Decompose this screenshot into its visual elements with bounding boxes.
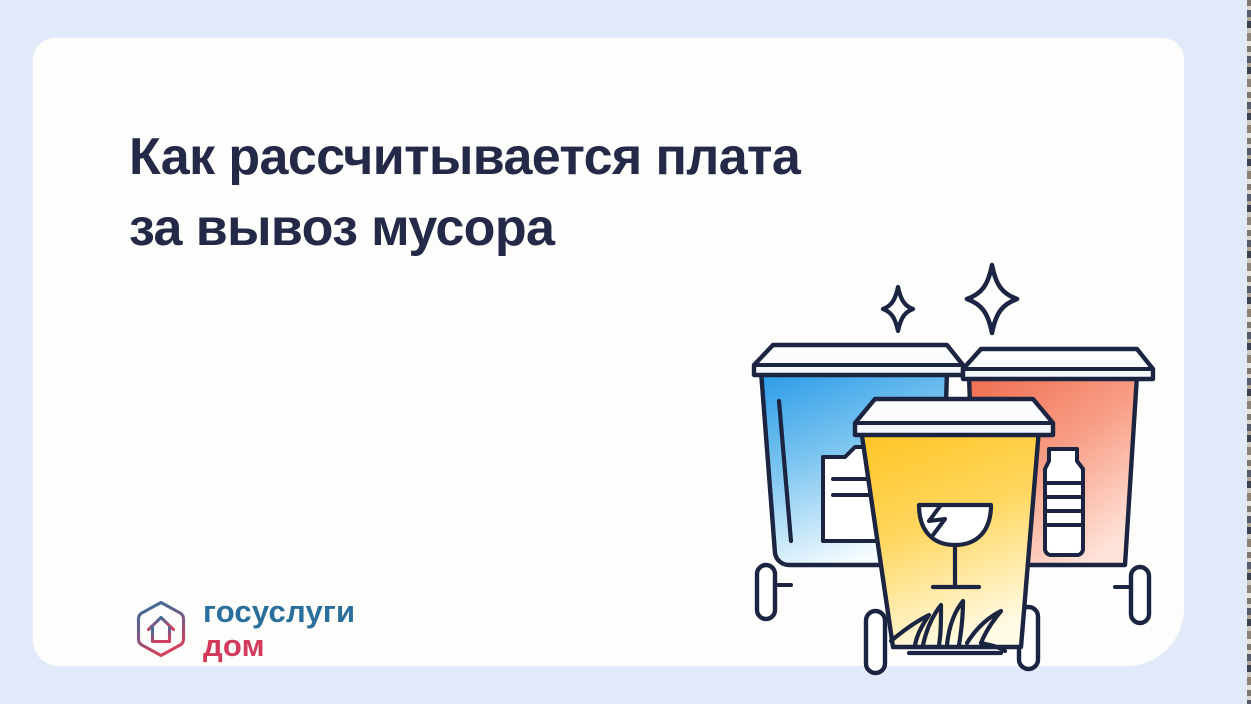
gosuslugi-dom-logo[interactable]: госуслуги дом: [130, 596, 355, 661]
screenshot-canvas: Как рассчитывается плата за вывоз мусора…: [0, 0, 1251, 704]
bin-glass: [855, 399, 1053, 673]
content-card: Как рассчитывается плата за вывоз мусора…: [33, 38, 1184, 666]
plastic-bottle-icon: [1045, 449, 1083, 555]
sparkle-large-icon: [967, 265, 1017, 333]
bin-wheel: [866, 611, 885, 673]
bin-wheel: [1131, 567, 1149, 623]
adjacent-content-sliver: [1247, 0, 1251, 704]
page-title: Как рассчитывается плата за вывоз мусора: [129, 122, 829, 263]
logo-wordmark: госуслуги дом: [203, 596, 355, 661]
hexagon-house-icon: [130, 598, 192, 660]
waste-bins-svg: [733, 253, 1173, 678]
logo-line-gosuslugi: госуслуги: [203, 596, 355, 627]
sparkle-small-icon: [883, 287, 913, 331]
three-waste-bins-illustration: [733, 253, 1173, 678]
bin-wheel: [757, 565, 775, 619]
logo-line-dom: дом: [203, 630, 355, 661]
